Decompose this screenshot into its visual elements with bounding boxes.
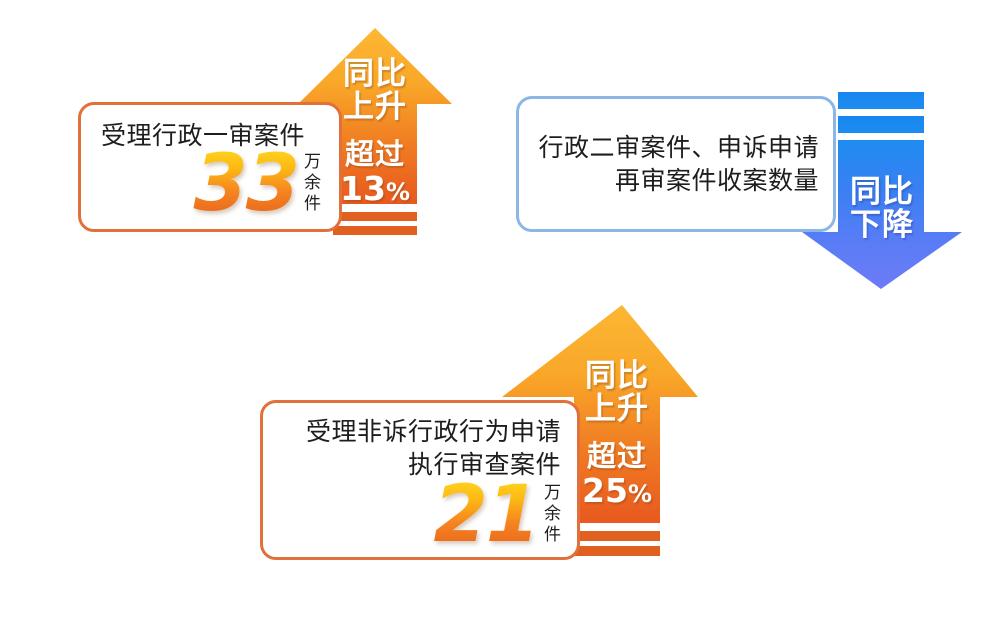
unit-char-wan: 万 bbox=[544, 483, 561, 504]
infographic-stage: 受理行政一审案件 33 万 余 件 同比 上升 超过 13% bbox=[0, 0, 1000, 630]
amount-row: 21 万 余 件 bbox=[281, 481, 561, 550]
card-content: 受理行政一审案件 33 万 余 件 bbox=[81, 105, 339, 229]
card-non-litigation-enforcement: 受理非诉行政行为申请 执行审查案件 21 万 余 件 bbox=[260, 400, 580, 560]
unit-stack: 万 余 件 bbox=[304, 152, 321, 214]
big-number: 21 bbox=[433, 481, 542, 550]
unit-char-wan: 万 bbox=[304, 152, 321, 173]
card-title: 行政二审案件、申诉申请 再审案件收案数量 bbox=[535, 131, 819, 197]
card-admin-first-instance: 受理行政一审案件 33 万 余 件 bbox=[78, 102, 342, 232]
card-content: 行政二审案件、申诉申请 再审案件收案数量 bbox=[519, 99, 833, 229]
unit-stack: 万 余 件 bbox=[544, 483, 561, 545]
unit-char-yu: 余 bbox=[304, 173, 321, 194]
card-content: 受理非诉行政行为申请 执行审查案件 21 万 余 件 bbox=[263, 403, 577, 557]
amount-row: 33 万 余 件 bbox=[101, 150, 321, 219]
unit-char-jian: 件 bbox=[544, 525, 561, 546]
card-admin-second-instance: 行政二审案件、申诉申请 再审案件收案数量 bbox=[516, 96, 836, 232]
unit-char-yu: 余 bbox=[544, 504, 561, 525]
unit-char-jian: 件 bbox=[304, 194, 321, 215]
big-number: 33 bbox=[193, 150, 302, 219]
